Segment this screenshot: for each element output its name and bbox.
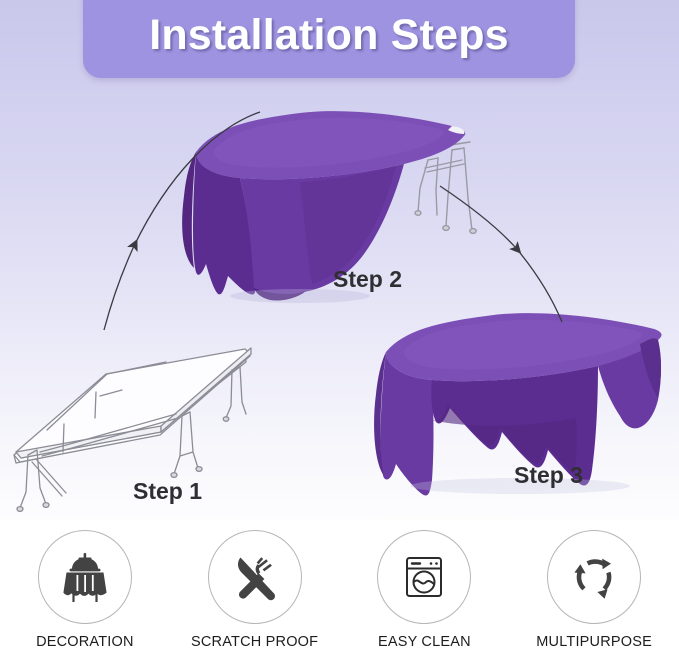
- feature-decoration-label: DECORATION: [36, 634, 134, 650]
- title-banner: Installation Steps: [83, 0, 575, 78]
- flow-arrows: [0, 0, 679, 520]
- feature-multipurpose-label: MULTIPURPOSE: [536, 634, 652, 650]
- page-title: Installation Steps: [149, 14, 509, 57]
- feature-decoration: DECORATION: [5, 530, 165, 650]
- step-1-label: Step 1: [133, 478, 202, 505]
- feature-easy-clean: EASY CLEAN: [344, 530, 504, 650]
- recycle-arrows-icon: [566, 549, 622, 605]
- installation-steps-infographic: Step 1 Step 2 Step 3 Installation Steps: [0, 0, 679, 663]
- step-3-label: Step 3: [514, 462, 583, 489]
- feature-easy-clean-circle: [377, 530, 471, 624]
- knife-fork-icon: [226, 548, 284, 606]
- arrow-step1-to-step2: [134, 112, 260, 246]
- covered-table-icon: [54, 546, 116, 608]
- feature-multipurpose: MULTIPURPOSE: [514, 530, 674, 650]
- feature-decoration-circle: [38, 530, 132, 624]
- feature-strip: DECORATION: [0, 520, 679, 663]
- feature-scratch-proof-circle: [208, 530, 302, 624]
- feature-multipurpose-circle: [547, 530, 641, 624]
- illustration-area: Step 1 Step 2 Step 3 Installation Steps: [0, 0, 679, 520]
- feature-easy-clean-label: EASY CLEAN: [378, 634, 471, 650]
- feature-scratch-proof-label: SCRATCH PROOF: [191, 634, 318, 650]
- step-2-label: Step 2: [333, 266, 402, 293]
- feature-scratch-proof: SCRATCH PROOF: [175, 530, 335, 650]
- washing-machine-icon: [395, 548, 453, 606]
- arrow-step2-to-step3: [440, 186, 516, 248]
